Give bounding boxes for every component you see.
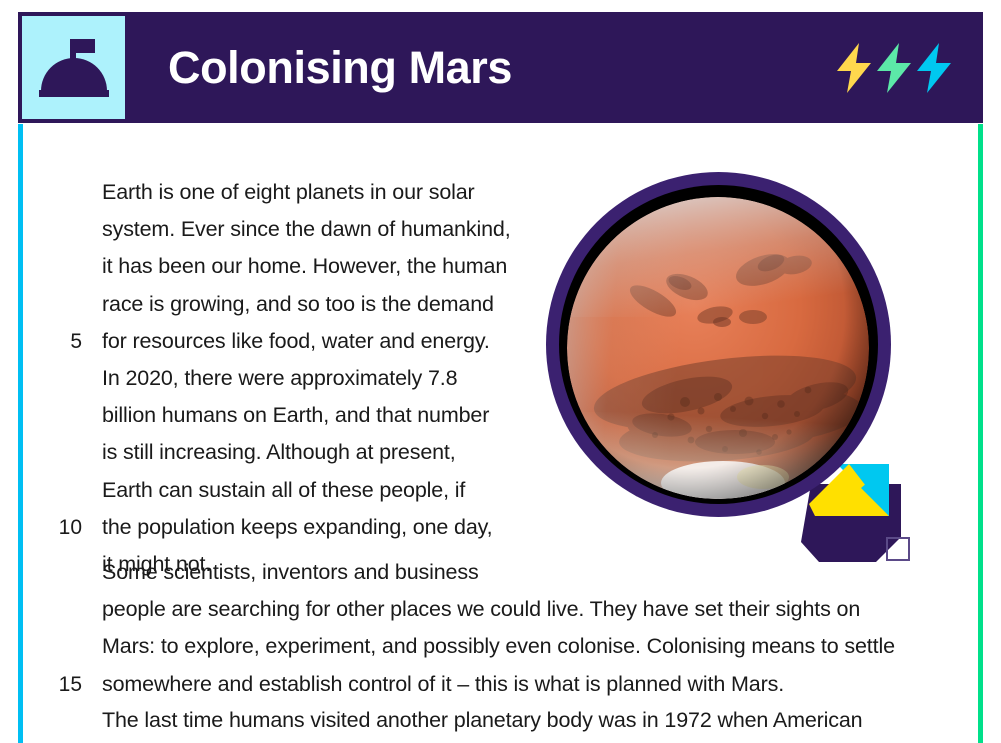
passage-paragraph-3: The last time humans visited another pla… bbox=[38, 702, 938, 739]
line-text: Earth is one of eight planets in our sol… bbox=[102, 174, 475, 211]
line-text: people are searching for other places we… bbox=[102, 591, 860, 628]
line-text: In 2020, there were approximately 7.8 bbox=[102, 360, 457, 397]
line-number: 5 bbox=[38, 323, 82, 360]
passage-line: system. Ever since the dawn of humankind… bbox=[38, 211, 938, 248]
line-text: is still increasing. Although at present… bbox=[102, 434, 456, 471]
dome-flag-icon bbox=[37, 37, 111, 99]
lightning-bolt-group bbox=[835, 43, 953, 93]
page-content: Earth is one of eight planets in our sol… bbox=[0, 124, 1001, 743]
line-text: Mars: to explore, experiment, and possib… bbox=[102, 628, 895, 665]
passage-line: people are searching for other places we… bbox=[38, 591, 938, 628]
passage-line: Mars: to explore, experiment, and possib… bbox=[38, 628, 938, 665]
passage-line: is still increasing. Although at present… bbox=[38, 434, 938, 471]
line-text: system. Ever since the dawn of humankind… bbox=[102, 211, 511, 248]
worksheet-page: Colonising Mars bbox=[0, 0, 1001, 743]
line-text: Some scientists, inventors and business bbox=[102, 554, 479, 591]
passage-paragraph-1: Earth is one of eight planets in our sol… bbox=[38, 174, 938, 583]
line-text: The last time humans visited another pla… bbox=[102, 702, 863, 739]
passage-line: it has been our home. However, the human bbox=[38, 248, 938, 285]
passage-line: race is growing, and so too is the deman… bbox=[38, 286, 938, 323]
lightning-bolt-green-icon bbox=[875, 43, 913, 93]
line-number: 15 bbox=[38, 666, 82, 703]
lightning-bolt-yellow-icon bbox=[835, 43, 873, 93]
line-text: race is growing, and so too is the deman… bbox=[102, 286, 494, 323]
passage-line: 10 the population keeps expanding, one d… bbox=[38, 509, 938, 546]
passage-line: Some scientists, inventors and business bbox=[38, 554, 938, 591]
line-text: Earth can sustain all of these people, i… bbox=[102, 472, 465, 509]
passage-paragraph-2: Some scientists, inventors and business … bbox=[38, 554, 938, 703]
line-text: it has been our home. However, the human bbox=[102, 248, 507, 285]
line-number: 10 bbox=[38, 509, 82, 546]
passage-line: Earth can sustain all of these people, i… bbox=[38, 472, 938, 509]
passage-line: 15 somewhere and establish control of it… bbox=[38, 666, 938, 703]
passage-line: Earth is one of eight planets in our sol… bbox=[38, 174, 938, 211]
passage-line: billion humans on Earth, and that number bbox=[38, 397, 938, 434]
passage-line: 5 for resources like food, water and ene… bbox=[38, 323, 938, 360]
line-text: the population keeps expanding, one day, bbox=[102, 509, 492, 546]
page-header: Colonising Mars bbox=[18, 12, 983, 123]
line-text: for resources like food, water and energ… bbox=[102, 323, 490, 360]
line-text: billion humans on Earth, and that number bbox=[102, 397, 489, 434]
line-text: somewhere and establish control of it – … bbox=[102, 666, 784, 703]
page-title: Colonising Mars bbox=[168, 42, 512, 94]
passage-line: The last time humans visited another pla… bbox=[38, 702, 938, 739]
passage-line: In 2020, there were approximately 7.8 bbox=[38, 360, 938, 397]
lightning-bolt-cyan-icon bbox=[915, 43, 953, 93]
header-icon-box bbox=[18, 12, 129, 123]
